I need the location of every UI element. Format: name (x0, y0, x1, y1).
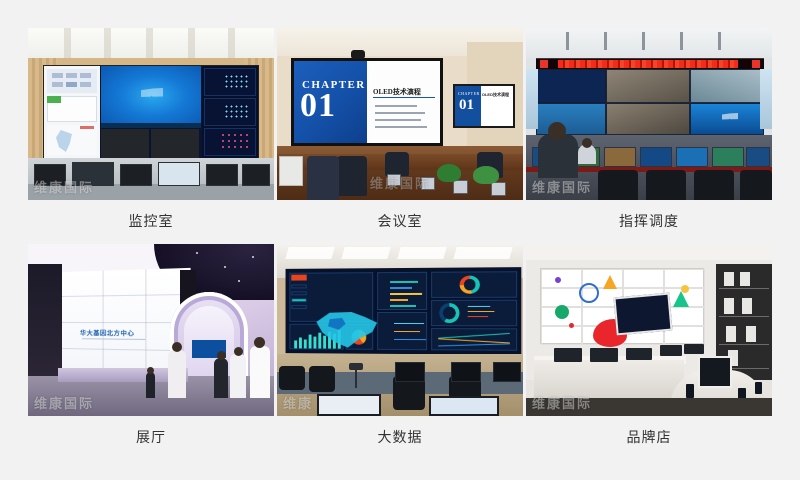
office-chair (740, 170, 772, 200)
wall-tile (541, 269, 582, 288)
screen-grid-line (62, 294, 191, 297)
office-chair (694, 170, 734, 200)
network-nodes (224, 104, 250, 120)
legend-row (468, 316, 489, 317)
desk-monitor (317, 394, 381, 416)
scada-block (66, 73, 77, 78)
display-laptop (660, 345, 682, 356)
bar (304, 340, 307, 349)
slide-title: OLED技术演程 (482, 92, 509, 98)
wall-tile-map (536, 69, 606, 103)
ceiling-star (224, 266, 226, 268)
thumbnail-exhibition-hall[interactable]: 华大基因北方中心 维康国际 (28, 244, 274, 416)
video-wall-right-panel (202, 66, 258, 158)
ceiling-light (604, 32, 607, 50)
led-banner-text (558, 60, 738, 68)
panel-alert-badge (291, 275, 306, 281)
operator-monitor (34, 164, 66, 186)
taskbar (101, 123, 201, 128)
wall-tile-camera (606, 69, 690, 103)
visitor-head (172, 342, 182, 352)
legend-row (468, 306, 491, 307)
ceiling-light (566, 32, 569, 50)
ceiling-star (252, 256, 254, 258)
scatter-series (394, 339, 426, 340)
dark-wall-panel (28, 264, 62, 382)
desk-front (28, 184, 274, 200)
scatter-series (394, 331, 420, 332)
legend-row (468, 311, 495, 312)
slide-chapter-number: 01 (459, 98, 474, 113)
ceiling-panel (285, 247, 334, 259)
video-conference-camera (351, 50, 365, 59)
inset-showcase-screen (613, 293, 672, 336)
trend-line (438, 333, 510, 339)
visitor-head (234, 347, 243, 356)
gallery-card-label: 会议室 (378, 212, 423, 232)
visitor-head (254, 337, 265, 348)
gallery-card-monitoring-room[interactable]: 维康国际 监控室 (28, 28, 274, 232)
slide-right-panel: OLED技术演程 (367, 61, 440, 143)
operator-monitor (158, 162, 200, 186)
bar (313, 337, 316, 349)
gallery-card-label: 品牌店 (627, 428, 672, 448)
window (526, 69, 538, 129)
table-tablet (491, 182, 506, 196)
windows-logo-icon (141, 88, 163, 106)
product-box (726, 326, 736, 342)
operator-monitor (206, 164, 238, 186)
gallery-card-command-dispatch[interactable]: 维康国际 指挥调度 (526, 28, 772, 232)
scada-block (52, 82, 63, 87)
visitor (250, 346, 270, 398)
heatmap-points (220, 132, 250, 152)
operator-monitor (242, 164, 270, 186)
table-tablet (421, 177, 435, 190)
wall-control-panel (279, 156, 303, 186)
led-banner (536, 58, 764, 69)
hbar (390, 293, 422, 295)
slide-bullet (375, 105, 417, 107)
thumbnail-monitoring-room[interactable]: 维康国际 (28, 28, 274, 200)
wall-tile-camera (606, 103, 690, 135)
led-banner-icon (540, 60, 548, 68)
operator-monitor (451, 362, 481, 382)
office-chair (279, 366, 305, 390)
trend-line (438, 343, 510, 346)
thumbnail-conference-room[interactable]: CHAPTER 01 OLED技术演程 CHAPTER 01 (277, 28, 523, 200)
panel-kpi (291, 284, 306, 288)
camera-feed (151, 129, 199, 158)
table-tablet (453, 180, 468, 194)
operator-monitor (72, 162, 114, 186)
slide-bullet (375, 119, 421, 121)
panel-scatter (377, 312, 427, 350)
gallery-card-exhibition-hall[interactable]: 华大基因北方中心 维康国际 (28, 244, 274, 448)
gallery-card-label: 监控室 (129, 212, 174, 232)
scatter-series (394, 323, 424, 324)
ceiling-light (718, 32, 721, 50)
table-plant (473, 166, 499, 184)
video-wall (536, 69, 764, 135)
wall-tile-camera (690, 69, 764, 103)
image-gallery: 维康国际 监控室 CHAPTER 01 OLED技术演程 (0, 0, 800, 480)
screen-title: 华大基因北方中心 (80, 328, 134, 338)
slide-title: OLED技术演程 (373, 87, 421, 97)
map-legend (80, 126, 94, 129)
graphic-circle (555, 305, 569, 319)
ceiling-light (680, 32, 683, 50)
presenter (146, 372, 155, 398)
operator-monitor (712, 147, 744, 167)
ceiling-light (642, 32, 645, 50)
thumbnail-big-data[interactable]: 维康 (277, 244, 523, 416)
panel-kpi (291, 291, 306, 295)
conference-chair (337, 156, 367, 196)
slide-chapter-number: 01 (300, 89, 336, 123)
product-box (742, 298, 752, 314)
display-laptop (590, 348, 618, 362)
visitor (168, 350, 186, 398)
camera-feed (101, 129, 149, 158)
donut-chart (460, 276, 480, 294)
scada-block (80, 73, 91, 78)
ceiling-star (196, 252, 198, 254)
secondary-screen: CHAPTER 01 OLED技术演程 (453, 84, 515, 128)
display-laptop (626, 348, 652, 360)
panel-kpi (291, 305, 306, 309)
gallery-row-1: 维康国际 监控室 CHAPTER 01 OLED技术演程 (28, 28, 772, 232)
operator-monitor (395, 362, 425, 382)
bar (323, 336, 326, 349)
ceiling-panel (453, 247, 512, 259)
operator-head (582, 138, 592, 148)
slide-chapter-label: CHAPTER (458, 91, 480, 96)
graphic-triangle (603, 275, 617, 289)
window (760, 69, 772, 129)
visitor (230, 354, 246, 398)
display-table (534, 360, 684, 400)
gallery-row-2: 华大基因北方中心 维康国际 (28, 244, 772, 448)
operator-monitor (746, 147, 770, 167)
panel-trend-lines (431, 328, 517, 351)
thumbnail-brand-store[interactable]: 维康国际 (526, 244, 772, 416)
graphic-dot (555, 277, 561, 283)
ceiling-star (238, 280, 240, 282)
screen-grid-line (145, 269, 146, 372)
product-box (724, 298, 734, 314)
screen-subtitle-rule (82, 338, 145, 340)
status-indicator-green (47, 96, 61, 103)
operator-head (548, 122, 566, 140)
gallery-card-label: 展厅 (136, 428, 166, 448)
conference-chair (385, 152, 409, 176)
ceiling (526, 28, 772, 58)
wall-tile (541, 326, 582, 345)
table-tablet (387, 174, 401, 186)
operator-monitor (604, 147, 636, 167)
hbar (390, 281, 418, 283)
display-laptop (554, 348, 582, 362)
floor (526, 398, 772, 416)
product-box (740, 272, 750, 286)
operator-monitor (640, 147, 672, 167)
hbar (390, 305, 416, 307)
visitor (214, 358, 228, 398)
slide-title-rule (373, 97, 435, 98)
bar (294, 340, 297, 348)
screen-grid-line (103, 271, 104, 372)
display-tablet (698, 356, 732, 388)
gallery-card-label: 指挥调度 (619, 212, 679, 232)
donut-chart (439, 303, 459, 323)
gallery-card-brand-store[interactable]: 维康国际 品牌店 (526, 244, 772, 448)
slide-bullet (375, 126, 427, 128)
gis-map-panel (47, 125, 97, 155)
presenter-head (147, 367, 154, 374)
video-wall-left-panel (44, 66, 100, 158)
visitor-head (217, 351, 226, 360)
gallery-card-conference-room[interactable]: CHAPTER 01 OLED技术演程 CHAPTER 01 (277, 28, 523, 232)
display-laptop (684, 344, 704, 354)
camera-body (349, 363, 363, 370)
ceiling-panel (341, 247, 390, 259)
display-phone (755, 382, 762, 394)
bar (299, 338, 302, 349)
gallery-card-label: 大数据 (378, 428, 423, 448)
graphic-triangle (673, 291, 689, 307)
table-plant (437, 164, 461, 182)
video-wall (44, 66, 258, 158)
video-wall-center-desktop (101, 66, 201, 128)
main-presentation-screen: CHAPTER 01 OLED技术演程 (291, 58, 443, 146)
panel-kpi (291, 298, 306, 302)
shelf (719, 288, 769, 289)
wall-tile (623, 269, 664, 288)
scada-block (80, 82, 91, 87)
operator-person (538, 134, 578, 178)
office-chair (309, 366, 335, 392)
shelf (719, 316, 769, 317)
desk-monitor (429, 396, 499, 416)
bar (309, 335, 312, 349)
product-box (724, 272, 734, 286)
ceiling-panel (397, 247, 446, 259)
hbar (390, 299, 408, 301)
office-chair (598, 170, 638, 200)
operator-monitor (676, 147, 708, 167)
display-phone (686, 384, 694, 398)
dashboard-video-wall (286, 267, 522, 355)
product-box (746, 326, 756, 342)
office-chair (646, 170, 686, 200)
retail-video-wall (540, 268, 704, 344)
graphic-circle (579, 283, 599, 303)
scada-block (66, 82, 77, 87)
network-nodes (224, 74, 250, 90)
slide-bullet (375, 112, 425, 114)
wall-tile-camera (536, 103, 606, 135)
graphic-dot (569, 323, 574, 328)
gallery-card-big-data[interactable]: 维康 大数据 (277, 244, 523, 448)
led-banner-icon (752, 60, 760, 68)
bar (318, 333, 321, 349)
conference-chair (307, 156, 339, 200)
panel-horizontal-bars (377, 272, 427, 310)
shelf (719, 344, 769, 345)
scada-block (52, 73, 63, 78)
operator-monitor (493, 362, 521, 382)
operator-monitor (120, 164, 152, 186)
hbar (390, 287, 412, 289)
thumbnail-command-dispatch[interactable]: 维康国际 (526, 28, 772, 200)
